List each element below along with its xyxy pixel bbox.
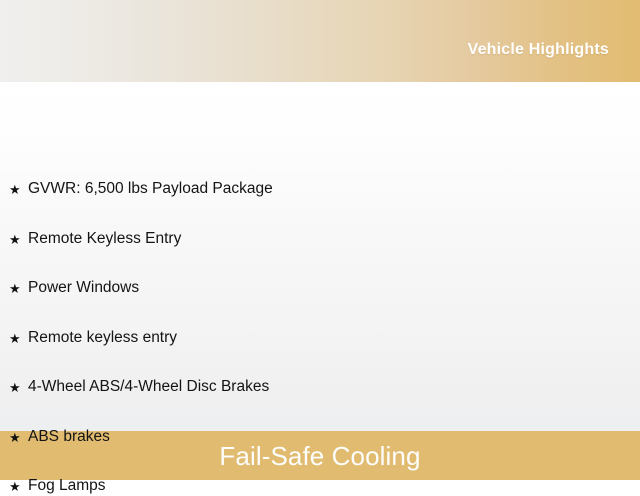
star-icon: ★: [9, 332, 28, 345]
list-item: ★ Power Windows: [0, 278, 640, 298]
vehicle-highlights-list: ★ GVWR: 6,500 lbs Payload Package ★ Remo…: [0, 82, 640, 431]
list-item: ★ Remote keyless entry: [0, 328, 640, 348]
star-icon: ★: [9, 282, 28, 295]
panel-header: Vehicle Highlights: [0, 0, 640, 82]
list-item-label: Remote keyless entry: [28, 328, 177, 348]
star-icon: ★: [9, 431, 28, 444]
list-item-label: ABS brakes: [28, 427, 110, 447]
page-title: Vehicle Highlights: [468, 24, 609, 58]
star-icon: ★: [9, 183, 28, 196]
list-item: ★ 4-Wheel ABS/4-Wheel Disc Brakes: [0, 377, 640, 397]
list-item-label: Fog Lamps: [28, 476, 106, 496]
vehicle-highlights-panel: Vehicle Highlights ★ GVWR: 6,500 lbs Pay…: [0, 0, 640, 480]
list-item: ★ Fog Lamps: [0, 476, 640, 496]
list-item-label: GVWR: 6,500 lbs Payload Package: [28, 179, 273, 199]
list-item-label: Power Windows: [28, 278, 139, 298]
list-item: ★ ABS brakes: [0, 427, 640, 447]
list-item-label: 4-Wheel ABS/4-Wheel Disc Brakes: [28, 377, 269, 397]
star-icon: ★: [9, 381, 28, 394]
star-icon: ★: [9, 480, 28, 493]
list-item: ★ Remote Keyless Entry: [0, 229, 640, 249]
list-item-label: Remote Keyless Entry: [28, 229, 181, 249]
star-icon: ★: [9, 233, 28, 246]
list-item: ★ GVWR: 6,500 lbs Payload Package: [0, 179, 640, 199]
